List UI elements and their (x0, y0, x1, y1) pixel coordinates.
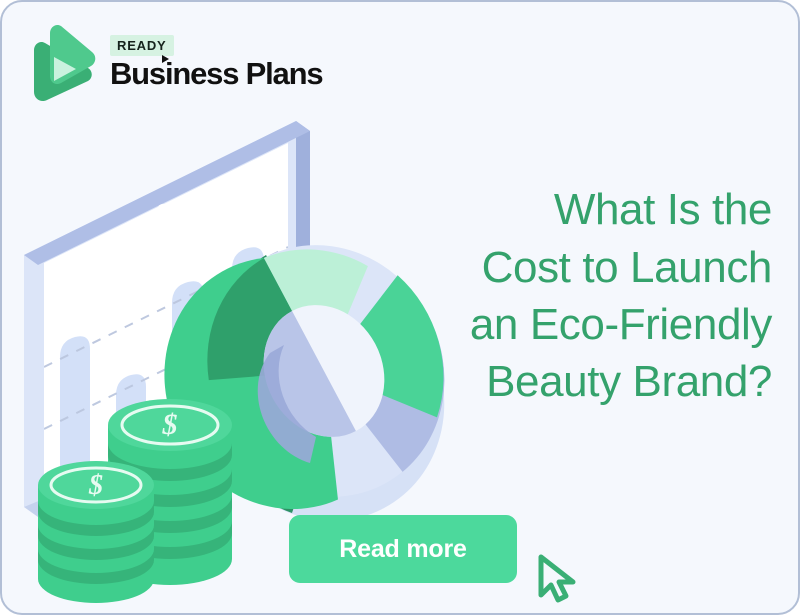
ready-badge: READY (110, 35, 174, 56)
headline-line-3: an Eco-Friendly (292, 296, 772, 353)
headline-line-2: Cost to Launch (292, 239, 772, 296)
cta-block: Read more (289, 515, 579, 583)
promo-banner: READY Business Plans (0, 0, 800, 615)
svg-text:$: $ (162, 408, 178, 441)
brand-title: Business Plans (110, 56, 322, 91)
dollar-coin-stack-icon: $ (38, 461, 154, 603)
page-title: What Is the Cost to Launch an Eco-Friend… (292, 181, 772, 410)
read-more-button[interactable]: Read more (289, 515, 517, 583)
tablet-bar-chart-icon (24, 121, 310, 519)
dollar-coin-stack-icon: $ (108, 399, 232, 585)
mouse-cursor-arrow-icon (535, 553, 579, 605)
brand-title-row: Business Plans (110, 58, 322, 91)
play-dot-icon (162, 55, 169, 63)
headline-line-4: Beauty Brand? (292, 353, 772, 410)
svg-text:$: $ (88, 470, 103, 501)
play-triangle-logo (30, 24, 96, 102)
brand-text-block: READY Business Plans (110, 35, 322, 91)
headline-line-1: What Is the (292, 181, 772, 238)
brand-block: READY Business Plans (30, 24, 322, 102)
